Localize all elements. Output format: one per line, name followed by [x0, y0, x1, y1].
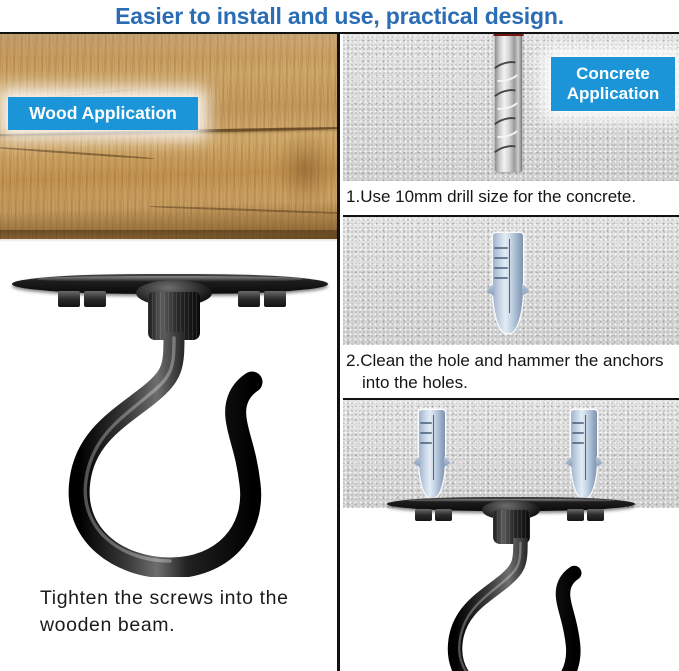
anchor-fin: [444, 456, 451, 467]
mounting-screw-nut: [58, 291, 80, 307]
plastic-wall-anchor: [419, 410, 445, 498]
mounting-screw-nut: [415, 509, 432, 521]
wooden-beam-image: [0, 34, 340, 239]
product-instruction-image: Easier to install and use, practical des…: [0, 0, 679, 671]
anchor-fin: [413, 456, 420, 467]
anchor-fin: [486, 283, 494, 296]
wood-caption-line2: wooden beam.: [40, 612, 330, 639]
mounting-screw-nut: [587, 509, 604, 521]
anchor-slot: [433, 415, 435, 480]
beam-underside-shadow: [0, 230, 340, 242]
wood-application-panel: Wood Application: [0, 34, 340, 671]
instruction-body: Wood Application: [0, 32, 679, 671]
step-2-text-line1: Clean the hole and hammer the anchors: [360, 351, 663, 370]
mounting-screw-nut: [567, 509, 584, 521]
concrete-application-panel: 1.Use 10mm drill size for the concrete.: [343, 34, 679, 671]
anchor-rib: [572, 442, 584, 444]
wood-application-label: Wood Application: [29, 103, 177, 124]
anchor-rib: [494, 247, 508, 249]
plastic-wall-anchor: [571, 410, 597, 498]
step-2-number: 2.: [346, 351, 360, 370]
anchor-rib: [572, 422, 584, 424]
step-2: 2.Clean the hole and hammer the anchors …: [343, 217, 679, 400]
anchor-fin: [522, 283, 530, 296]
step-1-number: 1.: [346, 187, 360, 206]
step-2-text-line2: into the holes.: [346, 372, 679, 394]
anchor-rib: [420, 422, 432, 424]
carbide-drill-tip: [493, 34, 524, 36]
step-1-text: Use 10mm drill size for the concrete.: [360, 187, 636, 206]
hook-body: [455, 539, 574, 671]
step-3-image: [343, 400, 679, 508]
mounting-screw-nut: [435, 509, 452, 521]
step-2-caption: 2.Clean the hole and hammer the anchors …: [346, 350, 679, 394]
header-banner: Easier to install and use, practical des…: [0, 0, 679, 32]
swivel-hook-illustration: [24, 332, 314, 577]
swivel-hook-illustration: [417, 538, 617, 671]
hook-body: [79, 332, 252, 568]
mounting-screw-nut: [238, 291, 260, 307]
wood-caption: Tighten the screws into the wooden beam.: [40, 585, 330, 639]
wood-knot: [276, 130, 334, 208]
anchor-slot: [585, 415, 587, 480]
wood-caption-line1: Tighten the screws into the: [40, 585, 330, 612]
concrete-application-badge: Concrete Application: [551, 57, 675, 111]
step-1-caption: 1.Use 10mm drill size for the concrete.: [346, 186, 679, 208]
anchor-rib: [494, 257, 508, 259]
masonry-drill-bit: [495, 34, 522, 182]
anchor-rib: [494, 277, 508, 279]
step-3: 3.Tighten the screws into the wall ancho…: [343, 400, 679, 671]
anchor-rib: [420, 442, 432, 444]
concrete-application-label-line2: Application: [567, 84, 660, 104]
anchor-rib: [494, 267, 508, 269]
step-2-image: [343, 217, 679, 345]
wood-application-badge: Wood Application: [8, 97, 198, 130]
mounting-screw-nut: [264, 291, 286, 307]
anchor-rib: [420, 432, 432, 434]
anchor-fin: [565, 456, 572, 467]
mounting-screw-nut: [84, 291, 106, 307]
anchor-rib: [572, 432, 584, 434]
wood-crack: [0, 146, 154, 159]
plastic-wall-anchor: [493, 233, 523, 333]
page-title: Easier to install and use, practical des…: [115, 3, 564, 30]
anchor-fin: [596, 456, 603, 467]
anchor-slot: [509, 239, 511, 313]
concrete-application-label-line1: Concrete: [576, 64, 650, 84]
